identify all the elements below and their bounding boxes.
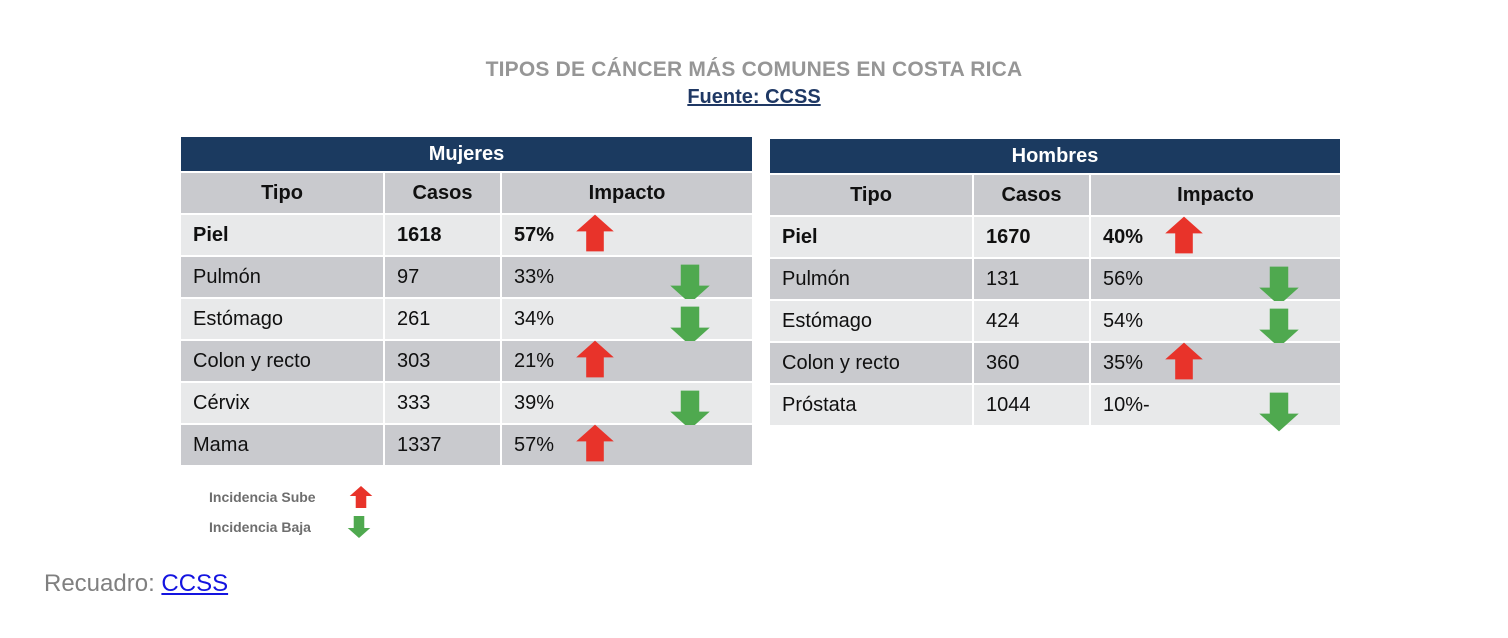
table-mujeres-header-row: Tipo Casos Impacto (181, 173, 752, 213)
cell-tipo: Colon y recto (181, 341, 383, 381)
cell-tipo: Piel (181, 215, 383, 255)
column-header-impacto: Impacto (502, 173, 752, 213)
cell-impacto: 56% (1091, 259, 1340, 299)
cell-tipo: Mama (181, 425, 383, 465)
table-mujeres: Mujeres Tipo Casos Impacto Piel161857%Pu… (181, 137, 752, 465)
cell-tipo: Estómago (181, 299, 383, 339)
cell-impacto: 35% (1091, 343, 1340, 383)
impacto-value: 56% (1103, 268, 1143, 291)
cell-casos: 131 (974, 259, 1089, 299)
cell-impacto: 40% (1091, 217, 1340, 257)
table-row: Mama133757% (181, 425, 752, 465)
table-hombres-body: Piel167040%Pulmón13156%Estómago42454%Col… (770, 217, 1340, 425)
column-header-impacto: Impacto (1091, 175, 1340, 215)
cell-casos: 1337 (385, 425, 500, 465)
cell-impacto: 57% (502, 425, 752, 465)
cell-casos: 97 (385, 257, 500, 297)
impacto-value: 21% (514, 350, 554, 373)
table-row: Pulmón9733% (181, 257, 752, 297)
arrow-up-icon (1158, 341, 1210, 381)
arrow-up-icon (569, 213, 621, 253)
legend-label: Incidencia Baja (209, 517, 311, 537)
cell-casos: 261 (385, 299, 500, 339)
arrow-up-icon (569, 423, 621, 463)
title-block: TIPOS DE CÁNCER MÁS COMUNES EN COSTA RIC… (0, 57, 1508, 110)
table-mujeres-body: Piel161857%Pulmón9733%Estómago26134%Colo… (181, 215, 752, 465)
cell-casos: 1670 (974, 217, 1089, 257)
cell-impacto: 39% (502, 383, 752, 423)
impacto-value: 35% (1103, 352, 1143, 375)
page-title: TIPOS DE CÁNCER MÁS COMUNES EN COSTA RIC… (0, 57, 1508, 83)
footer-prefix: Recuadro: (44, 570, 155, 597)
table-row: Estómago42454% (770, 301, 1340, 341)
impacto-value: 34% (514, 308, 554, 331)
table-row: Piel161857% (181, 215, 752, 255)
table-row: Cérvix33339% (181, 383, 752, 423)
footer-caption: Recuadro: CCSS (44, 570, 228, 598)
impacto-value: 57% (514, 224, 554, 247)
cell-tipo: Cérvix (181, 383, 383, 423)
table-row: Piel167040% (770, 217, 1340, 257)
cell-tipo: Próstata (770, 385, 972, 425)
table-hombres-header-row: Tipo Casos Impacto (770, 175, 1340, 215)
cell-impacto: 10%- (1091, 385, 1340, 425)
table-row: Pulmón13156% (770, 259, 1340, 299)
cell-casos: 360 (974, 343, 1089, 383)
cell-casos: 1044 (974, 385, 1089, 425)
legend-label: Incidencia Sube (209, 487, 316, 507)
cell-casos: 424 (974, 301, 1089, 341)
cell-tipo: Piel (770, 217, 972, 257)
cell-tipo: Estómago (770, 301, 972, 341)
impacto-value: 54% (1103, 310, 1143, 333)
cell-impacto: 33% (502, 257, 752, 297)
table-row: Estómago26134% (181, 299, 752, 339)
table-mujeres-title: Mujeres (181, 137, 752, 173)
footer-ccss-link[interactable]: CCSS (161, 570, 228, 597)
table-row: Colon y recto30321% (181, 341, 752, 381)
impacto-value: 39% (514, 392, 554, 415)
column-header-casos: Casos (974, 175, 1089, 215)
column-header-tipo: Tipo (181, 173, 383, 213)
arrow-up-icon (1158, 215, 1210, 255)
arrow-up-icon (347, 485, 375, 514)
impacto-value: 40% (1103, 226, 1143, 249)
column-header-casos: Casos (385, 173, 500, 213)
cell-tipo: Pulmón (181, 257, 383, 297)
cell-impacto: 21% (502, 341, 752, 381)
arrow-down-icon (1253, 391, 1305, 433)
table-row: Colon y recto36035% (770, 343, 1340, 383)
table-hombres: Hombres Tipo Casos Impacto Piel167040%Pu… (770, 139, 1340, 425)
cell-tipo: Pulmón (770, 259, 972, 299)
cell-impacto: 34% (502, 299, 752, 339)
cell-tipo: Colon y recto (770, 343, 972, 383)
cell-impacto: 57% (502, 215, 752, 255)
table-row: Próstata104410%- (770, 385, 1340, 425)
source-label: Fuente: CCSS (0, 85, 1508, 110)
arrow-up-icon (569, 339, 621, 379)
cell-casos: 303 (385, 341, 500, 381)
column-header-tipo: Tipo (770, 175, 972, 215)
impacto-value: 57% (514, 434, 554, 457)
impacto-value: 10%- (1103, 394, 1150, 417)
cell-impacto: 54% (1091, 301, 1340, 341)
cell-casos: 333 (385, 383, 500, 423)
impacto-value: 33% (514, 266, 554, 289)
arrow-down-icon (345, 515, 373, 544)
table-hombres-title: Hombres (770, 139, 1340, 175)
cell-casos: 1618 (385, 215, 500, 255)
